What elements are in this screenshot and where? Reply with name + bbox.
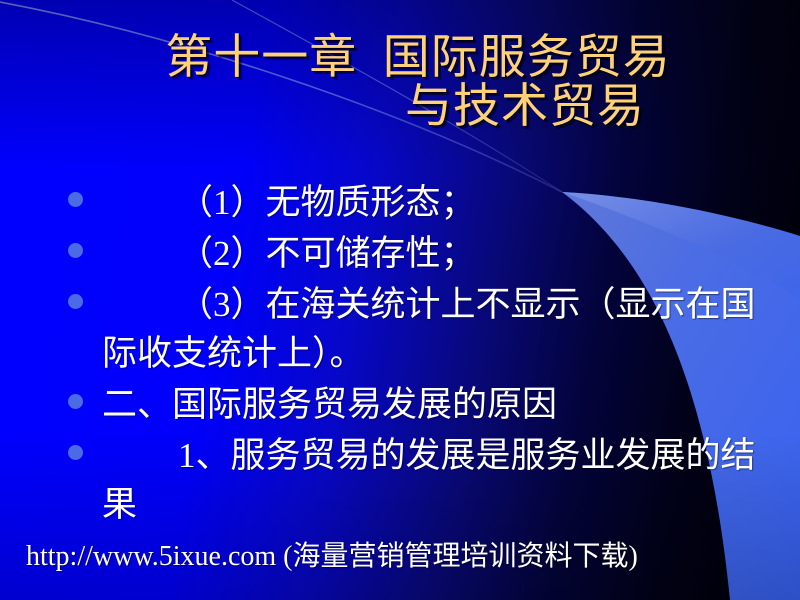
- slide-canvas: 第十一章 国际服务贸易 与技术贸易 （1）无物质形态； （2）不可储存性； （3…: [0, 0, 800, 600]
- slide-title: 第十一章 国际服务贸易 与技术贸易: [0, 34, 800, 132]
- bullet-text-5: 1、服务贸易的发展是服务业发展的结果: [62, 431, 760, 529]
- bullet-marker-icon: [68, 394, 83, 409]
- footer-source-text: http://www.5ixue.com (海量营销管理培训资料下载): [26, 540, 638, 574]
- slide-body: （1）无物质形态； （2）不可储存性； （3）在海关统计上不显示（显示在国际收支…: [0, 178, 760, 531]
- bullet-marker-icon: [68, 445, 83, 460]
- bullet-item-3: （3）在海关统计上不显示（显示在国际收支统计上）。: [0, 280, 760, 378]
- bullet-text-2: （2）不可储存性；: [62, 229, 760, 278]
- bullet-text-3: （3）在海关统计上不显示（显示在国际收支统计上）。: [62, 280, 760, 378]
- bullet-text-4: 二、国际服务贸易发展的原因: [62, 380, 760, 429]
- bullet-item-1: （1）无物质形态；: [0, 178, 760, 227]
- bullet-item-4: 二、国际服务贸易发展的原因: [0, 380, 760, 429]
- bullet-item-2: （2）不可储存性；: [0, 229, 760, 278]
- bullet-item-5: 1、服务贸易的发展是服务业发展的结果: [0, 431, 760, 529]
- title-line-1: 第十一章 国际服务贸易: [0, 34, 800, 83]
- bullet-marker-icon: [68, 294, 83, 309]
- title-line-2: 与技术贸易: [0, 83, 800, 132]
- bullet-text-1: （1）无物质形态；: [62, 178, 760, 227]
- bullet-marker-icon: [68, 243, 83, 258]
- bullet-marker-icon: [68, 192, 83, 207]
